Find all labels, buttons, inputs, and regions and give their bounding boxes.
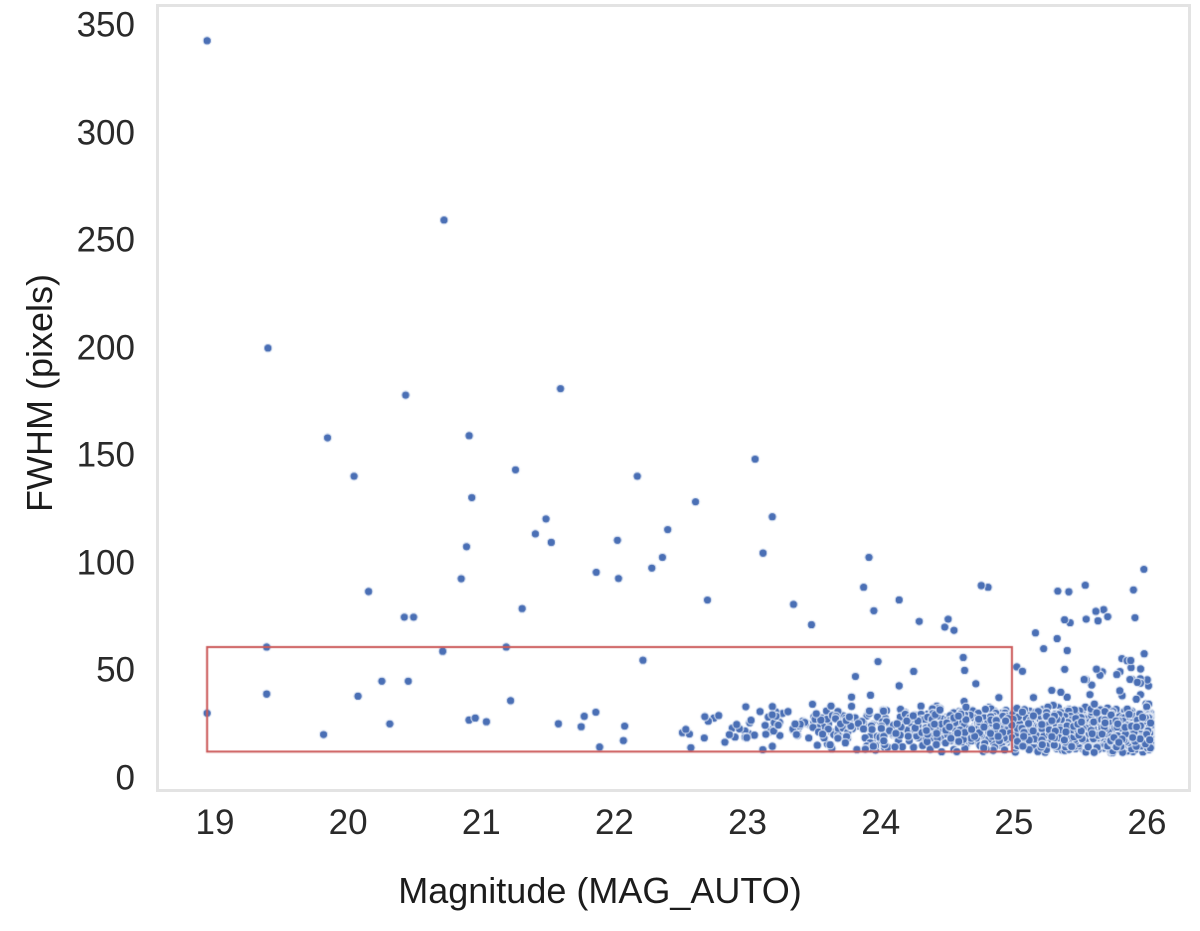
y-tick-label-50: 50 (30, 653, 135, 688)
x-tick-label-19: 19 (196, 805, 235, 840)
y-tick-label-300: 300 (30, 115, 135, 150)
scatter-plot-figure: 050100150200250300350 1920212223242526 M… (0, 0, 1200, 931)
plot-area (156, 4, 1191, 792)
x-tick-label-24: 24 (861, 805, 900, 840)
x-tick-label-20: 20 (329, 805, 368, 840)
x-tick-label-22: 22 (595, 805, 634, 840)
x-axis-title: Magnitude (MAG_AUTO) (0, 873, 1200, 909)
x-tick-label-21: 21 (462, 805, 501, 840)
y-axis-title: FWHM (pixels) (22, 183, 58, 603)
x-tick-label-25: 25 (994, 805, 1033, 840)
scatter-points-canvas (159, 7, 1188, 789)
x-tick-label-26: 26 (1128, 805, 1167, 840)
y-tick-label-350: 350 (30, 8, 135, 43)
x-tick-label-23: 23 (728, 805, 767, 840)
y-tick-label-0: 0 (30, 761, 135, 796)
